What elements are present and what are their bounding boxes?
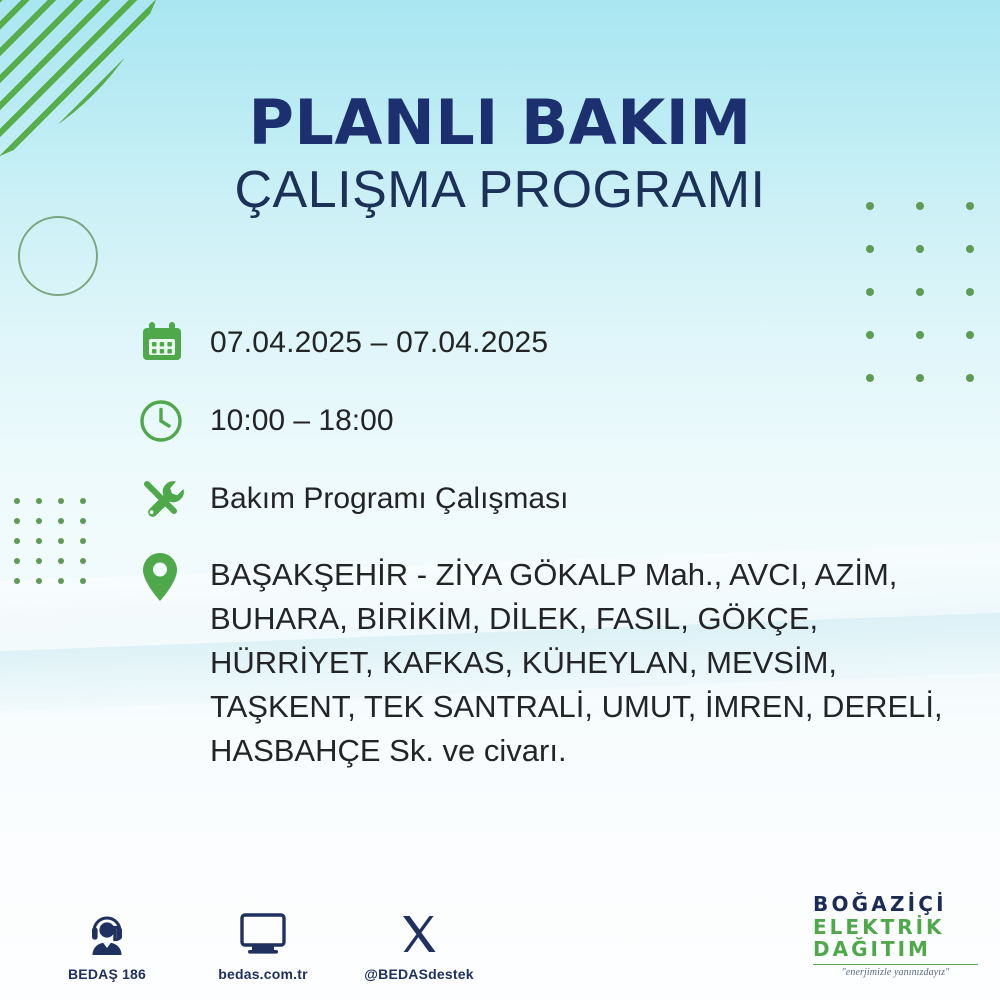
bedas-logo: BOĞAZİÇİ ELEKTRİK DAĞITIM "enerjimizle y… (813, 893, 978, 978)
contact-phone[interactable]: BEDAŞ 186 (52, 908, 162, 982)
info-value-date: 07.04.2025 – 07.04.2025 (194, 315, 968, 362)
contact-website[interactable]: bedas.com.tr (208, 908, 318, 982)
info-row-time: 10:00 – 18:00 (138, 393, 968, 449)
logo-line-dagitim: DAĞITIM (813, 938, 978, 960)
logo-line-bogazici: BOĞAZİÇİ (813, 893, 978, 915)
logo-tagline: "enerjimizle yanınızdayız" (813, 967, 978, 978)
page-title-line1: PLANLI BAKIM (0, 92, 1000, 154)
calendar-icon (138, 315, 194, 371)
poster-canvas: PLANLI BAKIM ÇALIŞMA PROGRAMI (0, 0, 1000, 1000)
monitor-icon (208, 908, 318, 960)
info-row-work: Bakım Programı Çalışması (138, 471, 968, 527)
clock-icon (138, 393, 194, 449)
circle-outline-decoration (18, 216, 98, 296)
page-title-line2: ÇALIŞMA PROGRAMI (0, 164, 1000, 216)
x-twitter-icon (364, 908, 474, 960)
info-value-time: 10:00 – 18:00 (194, 393, 968, 440)
info-row-location: BAŞAKŞEHİR - ZİYA GÖKALP Mah., AVCI, AZİ… (138, 549, 968, 773)
info-value-location: BAŞAKŞEHİR - ZİYA GÖKALP Mah., AVCI, AZİ… (194, 549, 968, 773)
dot-grid-left-decoration (14, 498, 102, 598)
page-title: PLANLI BAKIM ÇALIŞMA PROGRAMI (0, 92, 1000, 216)
contact-list: BEDAŞ 186 bedas.com.tr (52, 908, 474, 982)
contact-social-label: @BEDASdestek (364, 966, 474, 982)
headset-operator-icon (52, 908, 162, 960)
map-pin-icon (138, 549, 194, 605)
info-value-work: Bakım Programı Çalışması (194, 471, 968, 518)
contact-website-label: bedas.com.tr (208, 966, 318, 982)
logo-divider (813, 964, 978, 966)
info-list: 07.04.2025 – 07.04.2025 10:00 – 18:00 (138, 315, 968, 773)
logo-line-elektrik: ELEKTRİK (813, 916, 978, 938)
tools-icon (138, 471, 194, 527)
footer: BEDAŞ 186 bedas.com.tr (0, 870, 1000, 1000)
info-row-date: 07.04.2025 – 07.04.2025 (138, 315, 968, 371)
contact-phone-label: BEDAŞ 186 (52, 966, 162, 982)
contact-social[interactable]: @BEDASdestek (364, 908, 474, 982)
